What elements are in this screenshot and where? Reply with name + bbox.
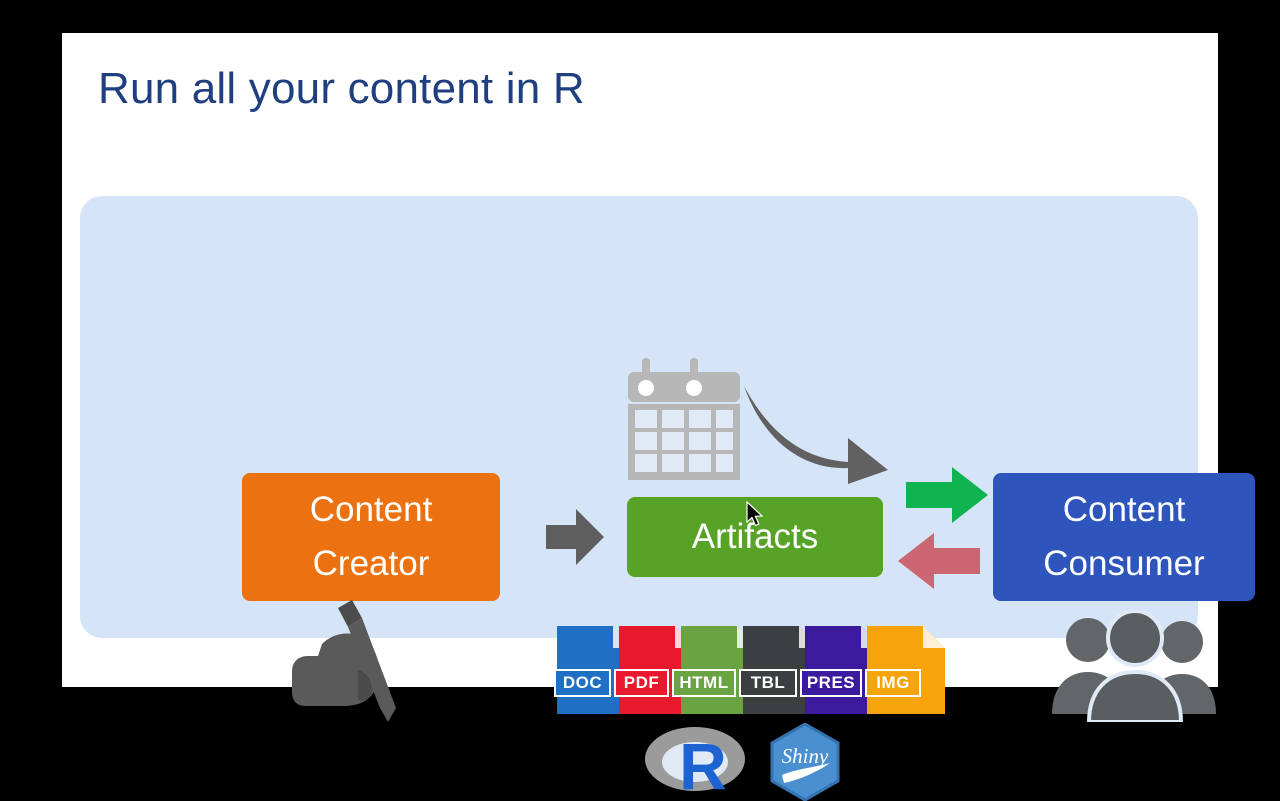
- file-badge-doc: DOC: [554, 669, 611, 697]
- file-badge-img: IMG: [865, 669, 921, 697]
- shiny-logo: Shiny: [770, 723, 840, 801]
- calendar-icon: [628, 358, 740, 480]
- r-logo-letter: R: [679, 729, 727, 795]
- file-badge-pres: PRES: [800, 669, 862, 697]
- arrow-schedule-curved: [742, 384, 890, 486]
- page-title: Run all your content in R: [98, 65, 585, 113]
- artifacts-box[interactable]: Artifacts: [627, 497, 883, 577]
- r-logo: R: [643, 723, 747, 795]
- artifacts-label: Artifacts: [692, 510, 818, 564]
- slide-canvas: Run all your content in R: [62, 33, 1218, 687]
- file-badge-tbl: TBL: [739, 669, 797, 697]
- arrow-creator-to-artifacts-icon: [546, 507, 604, 567]
- content-consumer-label-line2: Consumer: [1043, 537, 1204, 591]
- workflow-diagram-panel: Content Creator Artifacts Content Consum…: [80, 196, 1198, 638]
- file-badge-html: HTML: [672, 669, 736, 697]
- content-consumer-box[interactable]: Content Consumer: [993, 473, 1255, 601]
- hand-pen-icon: [292, 600, 426, 726]
- content-creator-label-line1: Content: [310, 483, 433, 537]
- people-group-icon: [1042, 610, 1228, 722]
- file-types-group: DOC PDF HTML TBL PRES IMG: [557, 626, 945, 714]
- content-consumer-label-line1: Content: [1063, 483, 1186, 537]
- file-badge-pdf: PDF: [614, 669, 669, 697]
- arrow-artifacts-to-consumer-icon: [906, 467, 988, 523]
- content-creator-label-line2: Creator: [313, 537, 430, 591]
- content-creator-box[interactable]: Content Creator: [242, 473, 500, 601]
- arrow-consumer-to-artifacts-icon: [898, 533, 980, 589]
- shiny-logo-label: Shiny: [782, 744, 829, 768]
